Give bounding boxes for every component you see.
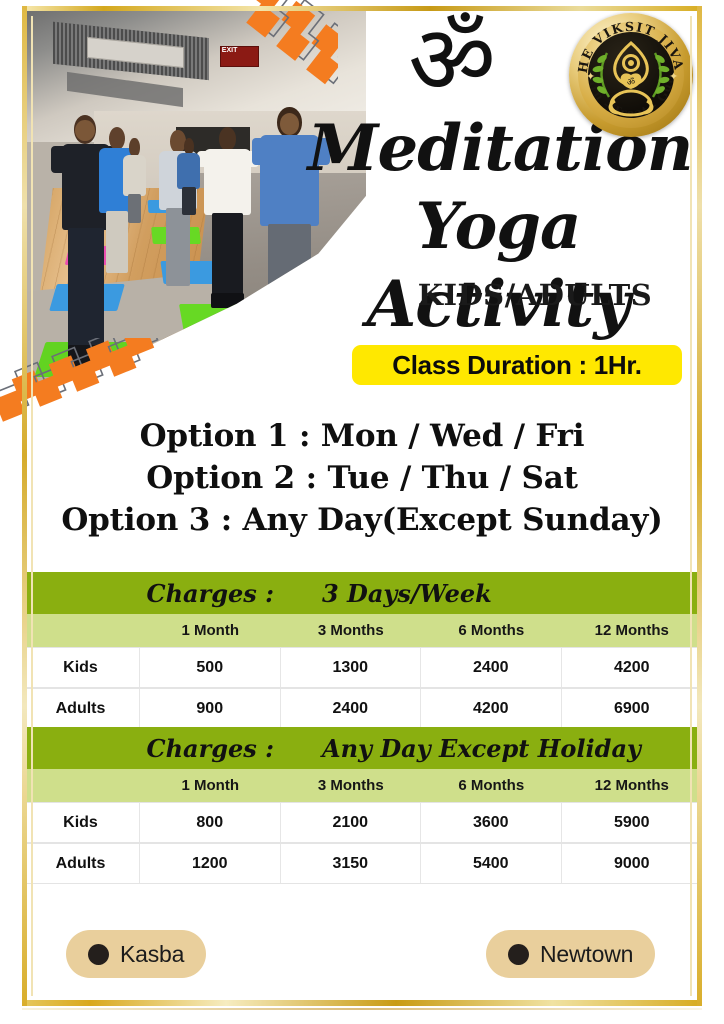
class-duration-banner: Class Duration : 1Hr.	[352, 345, 682, 385]
frame-inner-line-left	[31, 16, 33, 996]
svg-text:✦: ✦	[586, 70, 595, 83]
chevron-decoration-top	[208, 0, 338, 123]
price-kids-12months: 4200	[562, 648, 703, 687]
schedule-option-2: Option 2 : Tue / Thu / Sat	[40, 457, 684, 499]
price-adults-1month: 1200	[140, 844, 281, 883]
column-header-1month: 1 Month	[140, 614, 281, 647]
frame-border-right	[697, 6, 702, 1006]
table-row: Adults 1200 3150 5400 9000	[22, 843, 702, 884]
bullet-dot-icon	[88, 944, 109, 965]
price-kids-3months: 2100	[281, 803, 422, 842]
charges-label: Charges :	[22, 727, 302, 769]
price-adults-12months: 9000	[562, 844, 703, 883]
pricing-table-3days: Charges : 3 Days/Week 1 Month 3 Months 6…	[22, 572, 702, 729]
frame-border-bottom-shadow	[22, 1008, 702, 1010]
price-kids-12months: 5900	[562, 803, 703, 842]
om-symbol-icon: ॐ	[392, 8, 512, 118]
table-row: Kids 800 2100 3600 5900	[22, 802, 702, 843]
price-adults-1month: 900	[140, 689, 281, 728]
brand-logo-badge: THE VIKSIT JIVAN Learn - Treat - Guide	[569, 13, 693, 137]
price-adults-6months: 4200	[421, 689, 562, 728]
row-label-kids: Kids	[22, 648, 140, 687]
plan-label: Any Day Except Holiday	[302, 727, 702, 769]
column-header-blank	[22, 614, 140, 647]
charges-label: Charges :	[22, 572, 302, 614]
price-adults-12months: 6900	[562, 689, 703, 728]
frame-border-bottom	[22, 1000, 702, 1006]
schedule-option-1: Option 1 : Mon / Wed / Fri	[40, 415, 684, 457]
price-adults-3months: 3150	[281, 844, 422, 883]
frame-inner-line-right	[690, 16, 692, 996]
price-kids-1month: 500	[140, 648, 281, 687]
schedule-option-3: Option 3 : Any Day(Except Sunday)	[40, 499, 684, 541]
column-header-1month: 1 Month	[140, 769, 281, 802]
table-header-row: Charges : Any Day Except Holiday	[22, 727, 702, 769]
poster-root: ॐ THE VIKSIT JIVAN Learn - Treat - Guide	[0, 0, 724, 1024]
page-subtitle: KIDS/ADULTS	[380, 278, 690, 312]
price-kids-6months: 2400	[421, 648, 562, 687]
column-header-12months: 12 Months	[562, 614, 703, 647]
svg-text:ॐ: ॐ	[627, 77, 635, 88]
row-label-kids: Kids	[22, 803, 140, 842]
table-subheader-row: 1 Month 3 Months 6 Months 12 Months	[22, 769, 702, 802]
column-header-3months: 3 Months	[281, 769, 422, 802]
table-row: Adults 900 2400 4200 6900	[22, 688, 702, 729]
table-subheader-row: 1 Month 3 Months 6 Months 12 Months	[22, 614, 702, 647]
table-row: Kids 500 1300 2400 4200	[22, 647, 702, 688]
plan-label: 3 Days/Week	[302, 572, 702, 614]
column-header-6months: 6 Months	[421, 769, 562, 802]
price-kids-6months: 3600	[421, 803, 562, 842]
column-header-6months: 6 Months	[421, 614, 562, 647]
price-kids-3months: 1300	[281, 648, 422, 687]
price-kids-1month: 800	[140, 803, 281, 842]
column-header-12months: 12 Months	[562, 769, 703, 802]
svg-text:THE VIKSIT JIVAN: THE VIKSIT JIVAN	[569, 13, 687, 74]
location-label-kasba: Kasba	[120, 941, 184, 968]
frame-border-left	[22, 6, 27, 1006]
table-header-row: Charges : 3 Days/Week	[22, 572, 702, 614]
pricing-table-anyday: Charges : Any Day Except Holiday 1 Month…	[22, 727, 702, 884]
column-header-3months: 3 Months	[281, 614, 422, 647]
bullet-dot-icon	[508, 944, 529, 965]
location-pill-newtown[interactable]: Newtown	[486, 930, 655, 978]
location-pill-kasba[interactable]: Kasba	[66, 930, 206, 978]
schedule-options: Option 1 : Mon / Wed / Fri Option 2 : Tu…	[40, 415, 684, 541]
row-label-adults: Adults	[22, 844, 140, 883]
price-adults-6months: 5400	[421, 844, 562, 883]
row-label-adults: Adults	[22, 689, 140, 728]
price-adults-3months: 2400	[281, 689, 422, 728]
location-label-newtown: Newtown	[540, 941, 633, 968]
svg-text:✦: ✦	[669, 70, 678, 83]
class-duration-label: Class Duration : 1Hr.	[392, 350, 641, 381]
badge-top-label: THE VIKSIT JIVAN	[569, 13, 687, 74]
frame-border-top	[22, 6, 702, 11]
page-title-line2: Yoga Activity	[288, 188, 708, 268]
column-header-blank	[22, 769, 140, 802]
